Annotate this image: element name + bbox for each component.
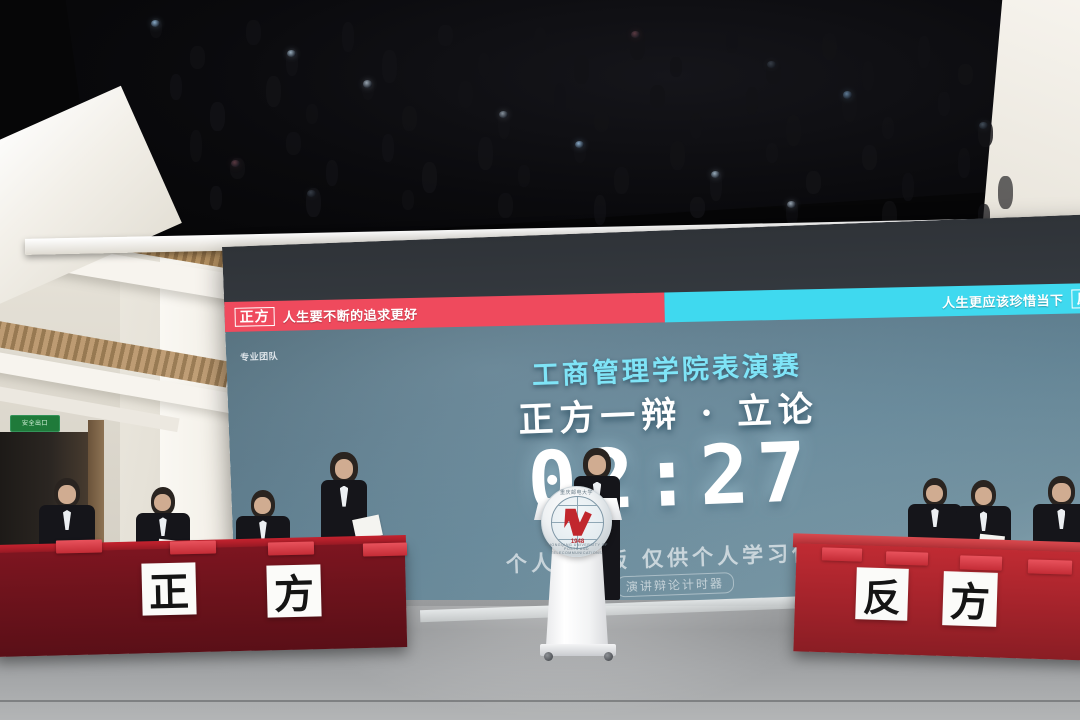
stage-light-fixture [518,165,530,187]
stage-light-fixture [438,25,453,46]
right-table-sign-2: 方 [942,571,998,627]
stage-light-fixture [574,55,589,84]
stage-light-fixture [998,176,1013,209]
stage-light-fixture [918,36,930,68]
pro-team-note: 专业团队 [240,349,278,363]
stage-light-fixture [210,186,222,210]
stage-light-fixture [766,143,778,163]
stage-light-fixture [210,102,225,131]
stage-light-fixture [382,50,397,83]
stage-light-fixture [190,46,205,69]
con-side-badge: 反 [1071,289,1080,309]
stage-light-fixture [478,137,493,170]
table-nameplate [1028,559,1072,574]
stage-light-fixture [670,141,685,170]
person-face [335,459,354,479]
stage-light-fixture [746,87,758,115]
stage-light-fixture [170,74,182,100]
stage-light-fixture [246,20,261,45]
podium-caster [604,652,613,661]
stage-light-fixture [726,31,738,53]
left-team-table [0,543,407,657]
pro-side-badge: 正方 [234,306,274,326]
exit-sign-label: 安全出口 [22,421,48,427]
stage-light-fixture [286,132,301,155]
stage-light-fixture [822,33,837,60]
table-nameplate [886,551,928,565]
stage-light-fixture [690,197,705,218]
stage-light-fixture [306,104,318,124]
stage-light-fixture [958,148,970,178]
stage-light-lens [575,141,584,148]
stage-light-fixture [342,22,354,52]
exit-sign: 安全出口 [10,415,60,432]
stage-light-fixture [534,27,546,53]
stage-light-lens [843,91,852,98]
stage-light-fixture [382,134,394,162]
stage-light-fixture [498,193,513,218]
stage-light-lens [363,80,372,87]
left-table-sign-2: 方 [266,564,321,617]
stage-light-fixture [862,61,874,91]
emblem-globe-line [558,505,597,506]
stage-light-fixture [478,53,490,77]
stage-light-fixture [650,85,665,108]
stage-light-fixture [786,115,801,146]
stage-light-fixture [690,113,702,139]
person-face [58,485,76,504]
table-nameplate [363,542,407,556]
table-nameplate [268,541,314,555]
stage-light-fixture [266,76,281,107]
stage-light-fixture [882,117,894,139]
watermark-badge: 演讲辩论计时器 [616,572,735,597]
floor-seam [0,700,1080,702]
stage-light-fixture [938,92,950,116]
con-side-slogan: 人生更应该珍惜当下 [942,289,1064,311]
stage-light-fixture [594,195,606,225]
stage-light-fixture [614,167,629,194]
table-nameplate [170,540,216,554]
stage-light-fixture [402,190,414,210]
stage-light-fixture [422,162,437,193]
emblem-inner-disc: 1948 [551,496,604,549]
stage-light-fixture [862,145,877,170]
person-face [588,455,607,475]
stage-light-fixture [958,64,973,85]
stage-light-fixture [190,130,202,162]
stage-light-fixture [902,173,914,201]
stage-light-lens [499,111,508,118]
stage-light-fixture [670,57,682,77]
stage-light-lens [979,122,988,129]
stage-light-fixture [402,106,417,131]
stage-light-fixture [458,81,473,108]
stage-light-fixture [554,83,566,115]
right-table-sign-1: 反 [855,567,909,621]
table-nameplate [56,539,102,553]
emblem-bottom-text: CHONGQING UNIVERSITY OF POSTS AND TELECO… [542,543,611,555]
person-face [1052,483,1070,502]
stage-light-fixture [594,111,609,132]
podium-caster [544,652,553,661]
table-nameplate [960,555,1002,570]
stage-light-fixture [806,171,821,194]
screenshot-root: 安全出口 正方 人生要不断的追求更好 人生更应该珍惜当下 反 专业团队 业余 工… [0,0,1080,720]
university-emblem: 重庆邮电大学 1948 CHONGQING UNIVERSITY OF POST… [541,486,612,557]
stage-light-fixture [326,160,338,186]
emblem-top-text: 重庆邮电大学 [542,489,611,496]
table-nameplate [822,547,862,561]
person-face [975,487,993,505]
pro-side-slogan: 人生要不断的追求更好 [282,303,417,325]
left-table-sign-1: 正 [141,562,196,615]
